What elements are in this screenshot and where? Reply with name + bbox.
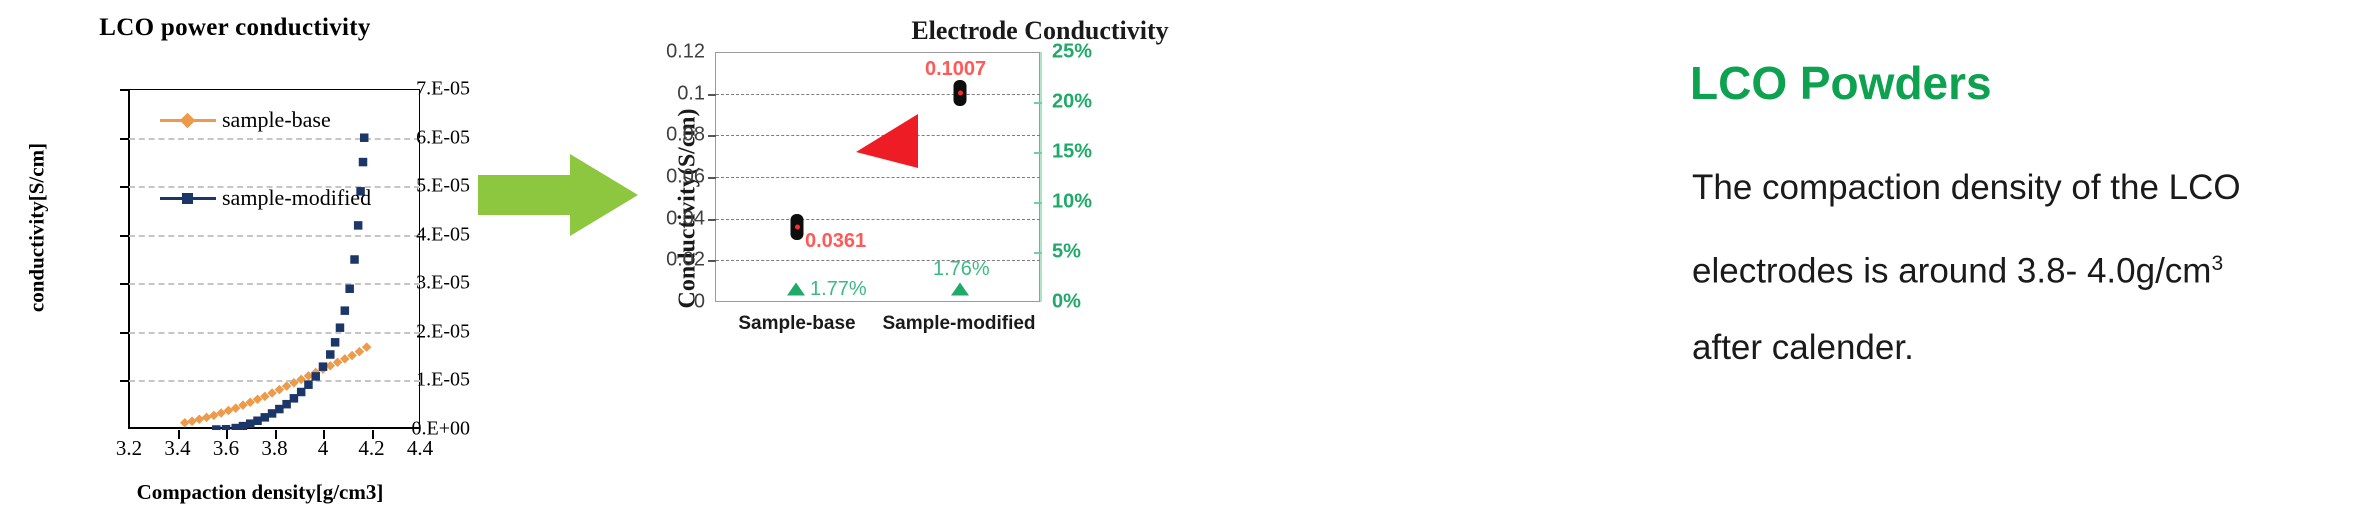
panel-body-line-3: after calender.: [1692, 310, 2352, 386]
left-chart-y-tick-mark: [120, 235, 129, 237]
cov-marker-sample-base: [787, 283, 805, 296]
left-chart-x-tick-mark: [372, 430, 374, 439]
panel-body-text: The compaction density of the LCO electr…: [1692, 150, 2352, 386]
left-chart-x-tick-label: 4.4: [385, 436, 455, 461]
mid-chart-gridline: [716, 219, 1040, 220]
cov-value-label-sample-modified: 1.76%: [933, 258, 990, 281]
mid-chart-secondary-axis-line: [1040, 52, 1042, 302]
electrode-conductivity-chart: Electrode Conductivity Conductivity(S/cm…: [640, 0, 1600, 530]
left-chart-x-tick-mark: [226, 430, 228, 439]
left-chart-y-tick-mark: [120, 283, 129, 285]
left-chart-y-tick-mark: [120, 89, 129, 91]
panel-body-superscript: 3: [2211, 252, 2223, 275]
lco-power-conductivity-chart: LCO power conductivity conductivity[S/cm…: [0, 0, 470, 530]
conductivity-value-label-sample-base: 0.0361: [805, 230, 866, 253]
red-pointer-triangle-icon: [854, 110, 920, 176]
mid-chart-y-tick-mark: [708, 135, 716, 137]
mid-chart-y-tick-mark: [708, 177, 716, 179]
left-chart-x-tick-mark: [275, 430, 277, 439]
mid-chart-y-tick-mark: [708, 260, 716, 262]
mid-chart-y2-tick-label: 10%: [1052, 191, 1142, 214]
mid-chart-y2-tick-mark: [1034, 202, 1042, 204]
left-chart-y-tick-mark: [120, 380, 129, 382]
mid-chart-y2-tick-mark: [1034, 102, 1042, 104]
mid-chart-y2-tick-label: 5%: [1052, 241, 1142, 264]
mid-chart-y-tick-label: 0.1: [605, 82, 705, 105]
legend-label: sample-modified: [222, 185, 371, 211]
legend-label: sample-base: [222, 107, 331, 133]
left-chart-x-tick-mark: [323, 430, 325, 439]
mid-chart-y-tick-label: 0.02: [605, 249, 705, 272]
legend-item-sample-base: sample-base: [160, 100, 410, 140]
mid-chart-y-tick-label: 0.12: [605, 41, 705, 64]
left-chart-y-tick-mark: [120, 186, 129, 188]
panel-body-line-2: electrodes is around 3.8- 4.0g/cm3: [1692, 226, 2352, 310]
left-chart-x-axis-label: Compaction density[g/cm3]: [60, 480, 460, 505]
lco-powders-panel: LCO Powders The compaction density of th…: [1690, 0, 2360, 530]
mid-chart-y2-tick-mark: [1034, 252, 1042, 254]
mid-chart-gridline: [716, 177, 1040, 178]
mid-chart-y-tick-label: 0: [605, 291, 705, 314]
mid-chart-y2-tick-label: 20%: [1052, 91, 1142, 114]
panel-heading: LCO Powders: [1690, 56, 1992, 110]
mid-chart-y-tick-label: 0.04: [605, 207, 705, 230]
mid-chart-category-label-sample-modified: Sample-modified: [864, 313, 1054, 335]
mid-chart-title: Electrode Conductivity: [720, 16, 1360, 46]
cov-value-label-sample-base: 1.77%: [810, 278, 867, 301]
conductivity-value-label-sample-modified: 0.1007: [925, 58, 986, 81]
legend-item-sample-modified: sample-modified: [160, 178, 410, 218]
mid-chart-y-tick-mark: [708, 219, 716, 221]
mid-chart-y2-tick-mark: [1034, 152, 1042, 154]
slide-canvas: LCO power conductivity conductivity[S/cm…: [0, 0, 2366, 530]
panel-body-line-1: The compaction density of the LCO: [1692, 150, 2352, 226]
mid-chart-y-tick-label: 0.08: [605, 124, 705, 147]
mid-chart-y-tick-mark: [708, 94, 716, 96]
left-chart-title: LCO power conductivity: [0, 14, 470, 42]
mid-chart-y2-tick-label: 25%: [1052, 41, 1142, 64]
left-chart-y-tick-mark: [120, 332, 129, 334]
mid-chart-y2-tick-label: 0%: [1052, 291, 1142, 314]
cov-marker-sample-modified: [951, 283, 969, 296]
left-chart-x-tick-mark: [178, 430, 180, 439]
mid-chart-gridline: [716, 260, 1040, 261]
legend-swatch-diamond-icon: [160, 112, 216, 128]
mid-chart-y-tick-label: 0.06: [605, 166, 705, 189]
conductivity-marker-sample-base: [791, 214, 804, 240]
left-chart-y-axis-label: conductivity[S/cm]: [25, 83, 50, 373]
left-chart-y-tick-mark: [120, 138, 129, 140]
panel-body-line-2-text: electrodes is around 3.8- 4.0g/cm: [1692, 252, 2211, 291]
legend-swatch-square-icon: [160, 190, 216, 206]
left-chart-legend: sample-base sample-modified: [160, 100, 410, 218]
conductivity-marker-sample-modified: [954, 80, 967, 106]
mid-chart-gridline: [716, 94, 1040, 95]
mid-chart-y2-tick-label: 15%: [1052, 141, 1142, 164]
